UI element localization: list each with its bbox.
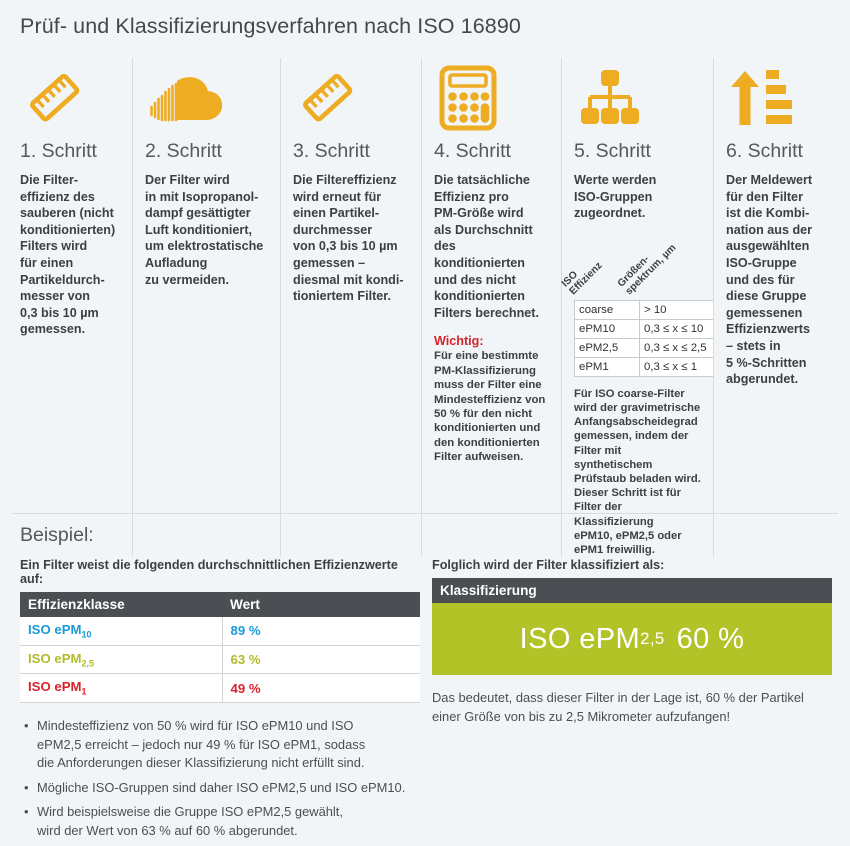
step-column-1: 1. Schritt Die Filter- effizienz des sau… [12, 58, 132, 557]
table-row: ISO ePM2,5 63 % [20, 645, 420, 674]
step-column-3: 3. Schritt Die Filtereffizienz wird erne… [280, 58, 421, 557]
step-title-4: 4. Schritt [434, 140, 549, 163]
classification-result-box: ISO ePM2,560 % [432, 603, 832, 675]
iso-class-cell: ePM2,5 [575, 338, 640, 357]
efficiency-class-label: ISO ePM [28, 679, 82, 694]
example-left-column: Ein Filter weist die folgenden durchschn… [20, 558, 420, 846]
step-column-6: 6. Schritt Der Meldewert für den Filter … [713, 58, 840, 557]
example-left-lead: Ein Filter weist die folgenden durchschn… [20, 558, 420, 586]
ruler-icon [293, 58, 409, 138]
col-header-value: Wert [222, 592, 420, 617]
step-title-3: 3. Schritt [293, 140, 409, 163]
step-body-5: Werte werden ISO-Gruppen zugeordnet. [574, 172, 701, 222]
important-note-heading: Wichtig: [434, 334, 549, 348]
iso-table-header-size-range: Größen- spektrum, µm [616, 235, 679, 298]
iso-table-rotated-headers: ISO Effizienz Größen- spektrum, µm [574, 236, 701, 300]
efficiency-class-cell: ISO ePM10 [20, 617, 222, 645]
efficiency-class-label: ISO ePM [28, 622, 82, 637]
classification-box-header: Klassifizierung [432, 578, 832, 603]
iso-range-cell: 0,3 ≤ x ≤ 10 [640, 319, 714, 338]
example-right-column: Folglich wird der Filter klassifiziert a… [432, 558, 832, 726]
step-body-4: Die tatsächliche Effizienz pro PM-Größe … [434, 172, 549, 321]
efficiency-class-cell: ISO ePM2,5 [20, 645, 222, 674]
table-row: ePM2,5 0,3 ≤ x ≤ 2,5 [575, 338, 714, 357]
calculator-icon [434, 58, 549, 138]
classification-result-value: 60 % [677, 623, 745, 656]
page-title: Prüf- und Klassifizierungsverfahren nach… [20, 14, 521, 39]
step-title-2: 2. Schritt [145, 140, 268, 163]
table-row: ePM1 0,3 ≤ x ≤ 1 [575, 357, 714, 376]
important-note-body: Für eine bestimmte PM-Klassifizierung mu… [434, 349, 549, 464]
iso-class-cell: coarse [575, 300, 640, 319]
step-body-6: Der Meldewert für den Filter ist die Kom… [726, 172, 828, 388]
efficiency-values-table: Effizienzklasse Wert ISO ePM10 89 % ISO … [20, 592, 420, 703]
cloud-icon [145, 58, 268, 138]
example-bullet-list: Mindesteffizienz von 50 % wird für ISO e… [20, 717, 420, 841]
classification-result-subscript: 2,5 [640, 629, 665, 649]
efficiency-class-subscript: 2,5 [82, 658, 94, 668]
iso-class-cell: ePM10 [575, 319, 640, 338]
infographic-page: Prüf- und Klassifizierungsverfahren nach… [0, 0, 850, 821]
table-row: ISO ePM1 49 % [20, 674, 420, 703]
iso-table-block: ISO Effizienz Größen- spektrum, µm coars… [574, 236, 701, 377]
efficiency-class-cell: ISO ePM1 [20, 674, 222, 703]
efficiency-value-cell: 49 % [222, 674, 420, 703]
efficiency-class-subscript: 10 [82, 630, 92, 640]
iso-table-header-efficiency: ISO Effizienz [560, 252, 605, 297]
coarse-filter-note: Für ISO coarse-Filter wird der gravimetr… [574, 387, 701, 557]
table-row: ePM10 0,3 ≤ x ≤ 10 [575, 319, 714, 338]
org-chart-icon [574, 58, 701, 138]
arrow-bars-icon [726, 58, 828, 138]
efficiency-value-cell: 89 % [222, 617, 420, 645]
example-section-title: Beispiel: [20, 524, 94, 547]
list-item: Mindesteffizienz von 50 % wird für ISO e… [37, 717, 420, 773]
list-item: Wird beispielsweise die Gruppe ISO ePM2,… [37, 803, 420, 840]
table-header-row: Effizienzklasse Wert [20, 592, 420, 617]
iso-range-cell: 0,3 ≤ x ≤ 2,5 [640, 338, 714, 357]
iso-classification-table: coarse > 10 ePM10 0,3 ≤ x ≤ 10 ePM2,5 0,… [574, 300, 714, 377]
step-column-4: 4. Schritt Die tatsächliche Effizienz pr… [421, 58, 561, 557]
table-row: coarse > 10 [575, 300, 714, 319]
example-closing-text: Das bedeutet, dass dieser Filter in der … [432, 689, 832, 726]
table-row: ISO ePM10 89 % [20, 617, 420, 645]
example-right-lead: Folglich wird der Filter klassifiziert a… [432, 558, 832, 572]
iso-range-cell: > 10 [640, 300, 714, 319]
efficiency-class-label: ISO ePM [28, 651, 82, 666]
iso-class-cell: ePM1 [575, 357, 640, 376]
step-body-1: Die Filter- effizienz des sauberen (nich… [20, 172, 120, 338]
col-header-efficiency-class: Effizienzklasse [20, 592, 222, 617]
step-title-6: 6. Schritt [726, 140, 828, 163]
step-body-2: Der Filter wird in mit Isopropanol- damp… [145, 172, 268, 288]
steps-row: 1. Schritt Die Filter- effizienz des sau… [12, 58, 840, 557]
step-title-1: 1. Schritt [20, 140, 120, 163]
efficiency-value-cell: 63 % [222, 645, 420, 674]
step-column-5: 5. Schritt Werte werden ISO-Gruppen zuge… [561, 58, 713, 557]
ruler-icon [20, 58, 120, 138]
list-item: Mögliche ISO-Gruppen sind daher ISO ePM2… [37, 779, 420, 798]
iso-range-cell: 0,3 ≤ x ≤ 1 [640, 357, 714, 376]
step-title-5: 5. Schritt [574, 140, 701, 163]
step-body-3: Die Filtereffizienz wird erneut für eine… [293, 172, 409, 305]
classification-result-label: ISO ePM [520, 623, 640, 656]
section-divider [12, 513, 838, 514]
efficiency-class-subscript: 1 [82, 687, 87, 697]
step-column-2: 2. Schritt Der Filter wird in mit Isopro… [132, 58, 280, 557]
